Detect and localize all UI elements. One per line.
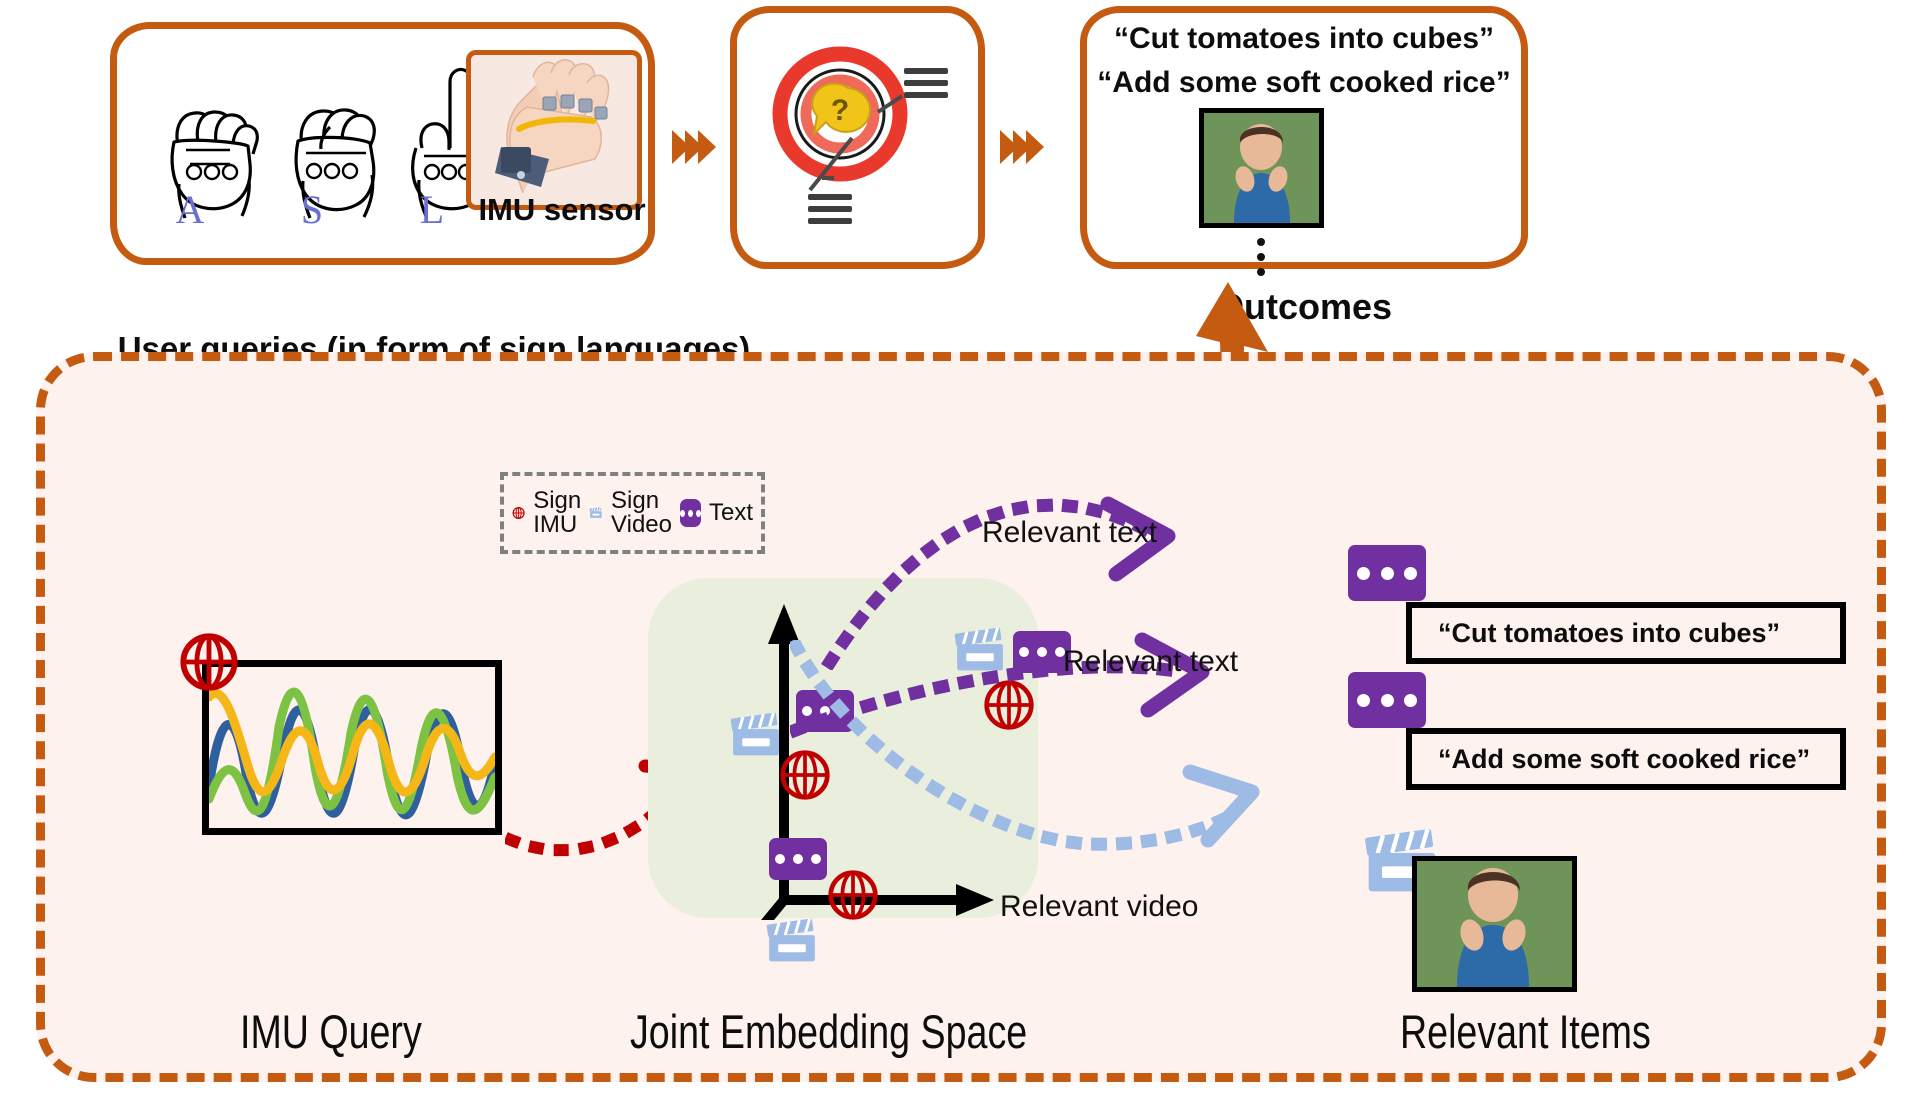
magnifier-target-question-icon: ? [752,38,964,238]
joint-embedding-title: Joint Embedding Space [630,1004,1027,1059]
clapperboard-icon [589,492,603,534]
chevron-right-triple-1 [672,130,711,164]
result-box-2[interactable]: “Add some soft cooked rice” [1406,728,1846,790]
legend-label-sign-imu: Sign IMU [533,489,581,537]
imu-query-globe-badge [178,631,240,693]
globe-icon [512,490,525,536]
cluster-query-clapperboard-icon [728,712,784,760]
legend-sign-imu-line1: Sign [533,489,581,513]
outcome-vertical-ellipsis [1257,238,1265,276]
chevron-right-triple-2 [1000,130,1039,164]
modality-legend: Sign IMU Sign Video Text [500,472,765,554]
outcome-video-thumbnail [1199,108,1324,228]
imu-query-title: IMU Query [240,1004,422,1059]
outcome-line-1: “Cut tomatoes into cubes” [1080,22,1528,56]
caption-outcomes: Outcomes [1080,286,1528,328]
relevant-video-label: Relevant video [1000,890,1198,924]
relevant-items-title: Relevant Items [1400,1004,1651,1059]
legend-sign-video-line2: Video [611,513,672,537]
result-3-video-thumbnail[interactable] [1412,856,1577,992]
result-text-1: “Cut tomatoes into cubes” [1438,618,1780,649]
chat-bubble-icon [680,499,701,527]
outcome-line-2: “Add some soft cooked rice” [1080,66,1528,100]
legend-label-sign-video: Sign Video [611,489,672,537]
imu-wristband-photo [466,50,642,210]
asl-letter-s-label: S [252,186,372,233]
legend-sign-video-line1: Sign [611,489,672,513]
svg-text:?: ? [831,94,849,127]
cluster-lower-clapperboard-icon [764,918,820,966]
imu-signal-plot [202,660,502,835]
result-2-chat-bubble-icon [1348,672,1426,728]
result-text-2: “Add some soft cooked rice” [1438,744,1810,775]
result-box-1[interactable]: “Cut tomatoes into cubes” [1406,602,1846,664]
legend-label-text: Text [709,501,753,525]
relevant-video-edge [790,640,1310,890]
asl-letter-a-label: A [130,186,250,233]
imu-sensor-label: IMU sensor [462,192,662,229]
legend-sign-imu-line2: IMU [533,513,581,537]
result-1-chat-bubble-icon [1348,545,1426,601]
relevant-text-label-1: Relevant text [982,516,1157,550]
